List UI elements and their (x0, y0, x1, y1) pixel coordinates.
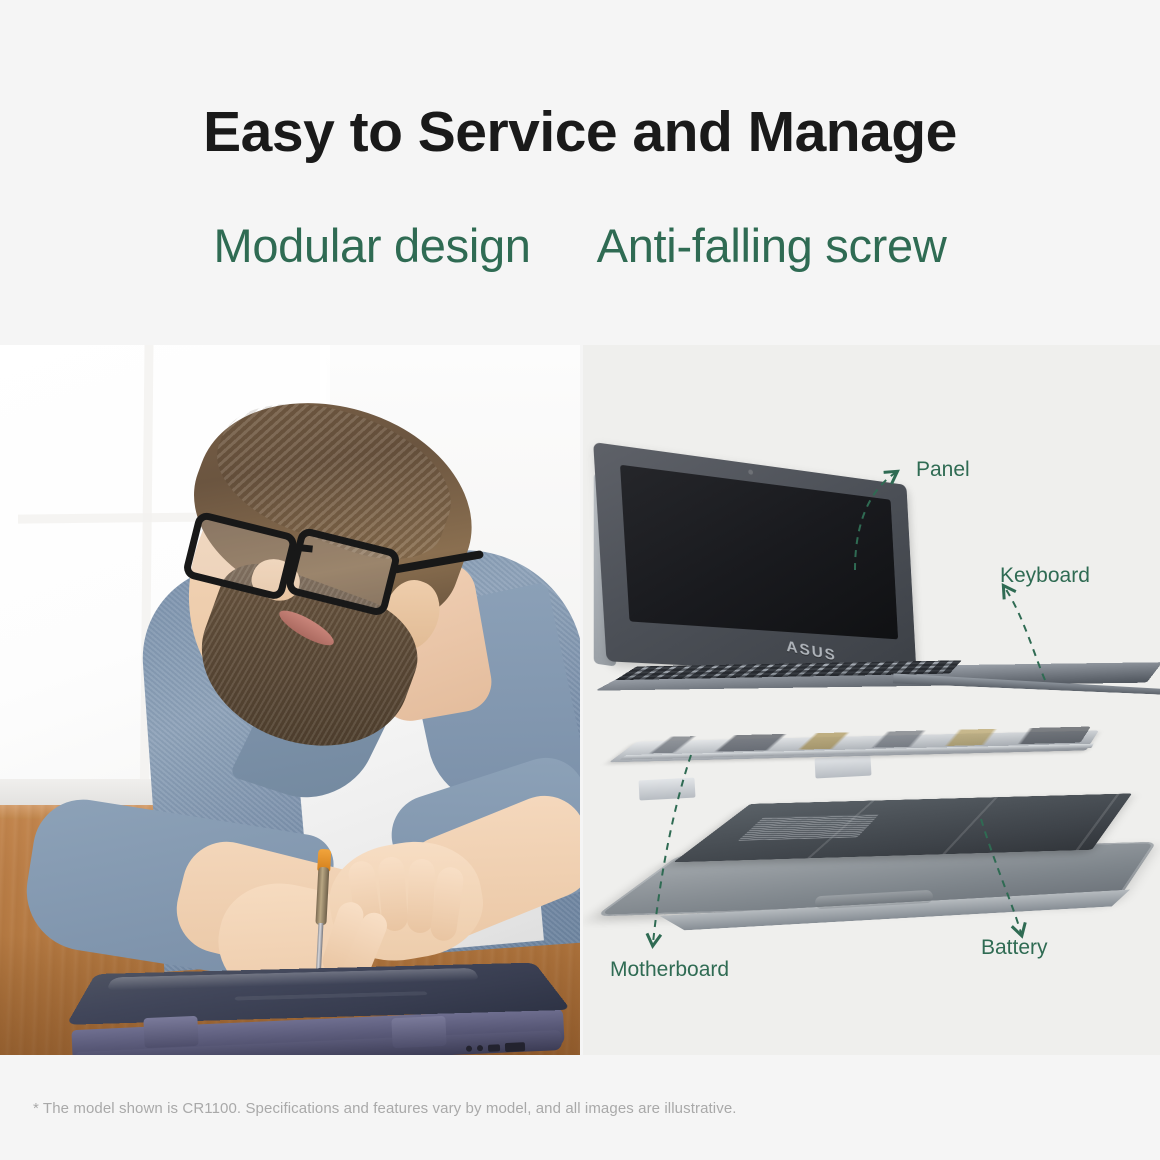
laptop-lid-highlight (106, 968, 480, 991)
callout-battery: Battery (981, 935, 1048, 960)
subtitle-modular-design: Modular design (213, 218, 530, 274)
port-usb (488, 1044, 500, 1052)
port-hdmi (505, 1042, 525, 1052)
laptop-hinge (391, 1016, 446, 1048)
image-panels: ASUS (0, 345, 1160, 1055)
subtitle-group: Modular design Anti-falling screw (0, 218, 1160, 274)
display-screen (620, 465, 898, 640)
right-exploded-panel: ASUS (583, 345, 1160, 1055)
callout-motherboard: Motherboard (610, 957, 729, 982)
screwdriver-grip (315, 867, 329, 925)
exploded-components (603, 717, 1160, 947)
closed-laptop (52, 945, 572, 1055)
webcam-icon (748, 469, 753, 475)
subtitle-anti-falling-screw: Anti-falling screw (597, 218, 947, 274)
callout-keyboard: Keyboard (1000, 563, 1090, 588)
laptop-service-hatch (235, 991, 428, 1000)
product-feature-page: Easy to Service and Manage Modular desig… (0, 0, 1160, 1160)
page-title: Easy to Service and Manage (0, 100, 1160, 166)
callout-panel: Panel (916, 457, 970, 482)
display-lid: ASUS (593, 442, 917, 677)
laptop-hinge (143, 1016, 198, 1048)
motherboard-standoff (639, 778, 696, 801)
port-round (466, 1046, 472, 1052)
port-round (477, 1045, 483, 1051)
motherboard-standoff (815, 756, 872, 779)
left-photo-panel (0, 345, 580, 1055)
footnote-disclaimer: * The model shown is CR1100. Specificati… (33, 1100, 737, 1117)
